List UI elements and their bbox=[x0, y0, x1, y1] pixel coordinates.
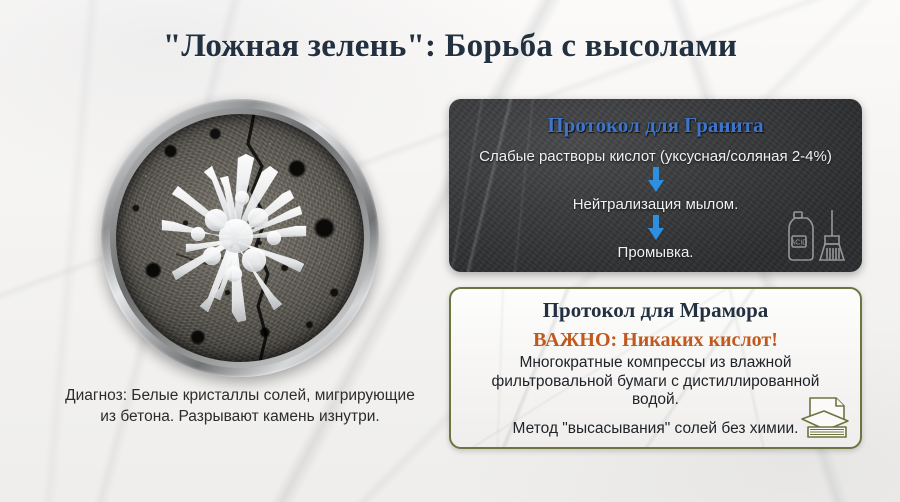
granite-protocol-panel: Протокол для Гранита Слабые растворы кис… bbox=[449, 99, 862, 272]
photo-caption: Диагноз: Белые кристаллы солей, мигрирую… bbox=[60, 385, 420, 428]
arrow-down-icon bbox=[646, 167, 666, 193]
photo-image bbox=[116, 114, 364, 362]
marble-warning-text: ВАЖНО: Никаких кислот! bbox=[451, 329, 860, 352]
salt-efflorescence-photo bbox=[101, 99, 379, 377]
salt-crystal-burst bbox=[116, 114, 364, 362]
granite-panel-title: Протокол для Гранита bbox=[449, 113, 862, 138]
granite-arrow-1 bbox=[449, 167, 862, 193]
arrow-down-icon bbox=[646, 215, 666, 241]
concrete-crack bbox=[116, 114, 364, 362]
marble-panel-title: Протокол для Мрамора bbox=[451, 298, 860, 323]
marble-protocol-panel: Протокол для Мрамора ВАЖНО: Никаких кисл… bbox=[449, 287, 862, 449]
page-title: "Ложная зелень": Борьба с высолами bbox=[0, 28, 900, 65]
acid-bottle-label: ACID bbox=[791, 240, 808, 247]
granite-step-1: Слабые растворы кислот (уксусная/соляная… bbox=[449, 148, 862, 165]
paper-compress-stack-icon bbox=[796, 395, 854, 443]
acid-bottle-and-brush-icon: ACID bbox=[784, 208, 850, 266]
slide-root: "Ложная зелень": Борьба с высолами bbox=[0, 0, 900, 502]
